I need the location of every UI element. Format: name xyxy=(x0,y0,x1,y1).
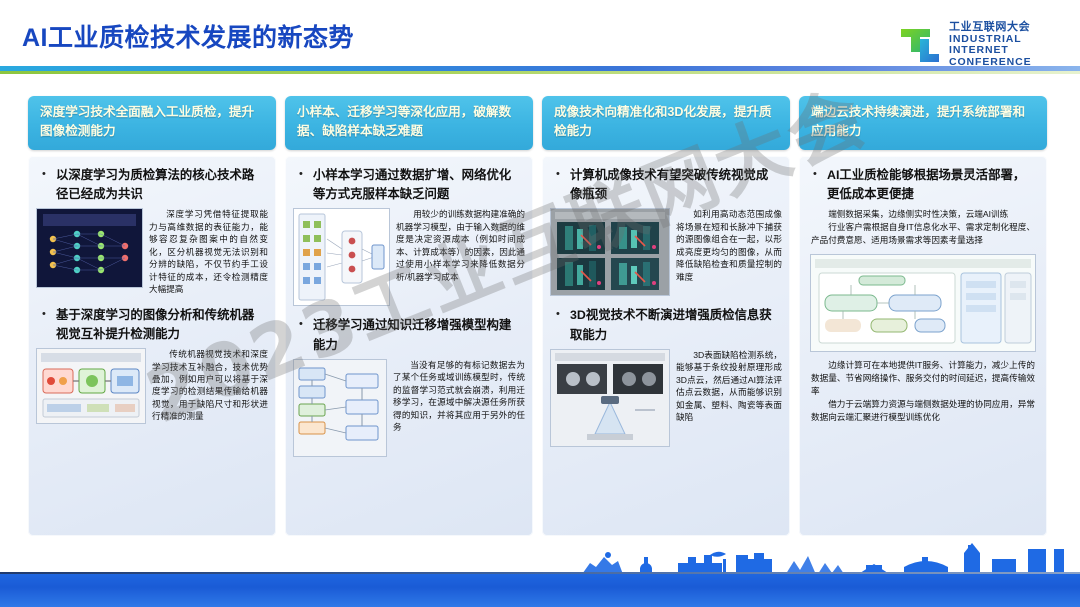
bullet-dot-icon: • xyxy=(813,166,820,204)
column-1-heading-text: 深度学习技术全面融入工业质检，提升图像检测能力 xyxy=(40,103,266,141)
footer-band xyxy=(0,574,1080,607)
content-block: 用较少的训练数据构建准确的机器学习模型，由于输入数据的维度是决定资源成本（例如时… xyxy=(293,208,525,306)
content-paragraph: 深度学习凭借特征提取能力与高维数据的表征能力，能够容忍复杂图案中的自然变化，区分… xyxy=(149,208,268,295)
bullet-dot-icon: • xyxy=(299,316,306,354)
few-shot-learning-diagram-thumbnail xyxy=(293,208,390,306)
column-4-heading-text: 端边云技术持续演进，提升系统部署和应用能力 xyxy=(811,103,1037,141)
list-item: • 小样本学习通过数据扩增、网络优化等方式克服样本缺乏问题 xyxy=(293,166,525,204)
list-item: • 基于深度学习的图像分析和传统机器视觉互补提升检测能力 xyxy=(36,306,268,344)
list-item: • 迁移学习通过知识迁移增强模型构建能力 xyxy=(293,316,525,354)
content-columns: 深度学习技术全面融入工业质检，提升图像检测能力 • 以深度学习为质检算法的核心技… xyxy=(0,96,1080,548)
3d-structured-light-scanner-thumbnail xyxy=(550,349,670,447)
column-imaging: 成像技术向精准化和3D化发展，提升质检能力 • 计算机成像技术有望突破传统视觉成… xyxy=(542,96,790,536)
list-item: • AI工业质检能够根据场景灵活部署，更低成本更便捷 xyxy=(807,166,1039,204)
column-1-heading-banner: 深度学习技术全面融入工业质检，提升图像检测能力 xyxy=(28,96,276,150)
content-paragraph: 端侧数据采集，边缘侧实时性决策，云端AI训练 xyxy=(807,208,1039,221)
content-paragraph: 借力于云端算力资源与端侧数据处理的协同应用，异常数据向云端汇聚进行模型训练优化 xyxy=(807,398,1039,424)
column-3-body: • 计算机成像技术有望突破传统视觉成像瓶颈 xyxy=(542,156,790,536)
neural-network-diagram-thumbnail xyxy=(36,208,143,288)
bullet-label: 以深度学习为质检算法的核心技术路径已经成为共识 xyxy=(56,166,266,204)
machine-vision-pipeline-thumbnail xyxy=(36,348,146,424)
content-block: 当没有足够的有标记数据去为了某个任务或域训练模型时，传统的监督学习范式就会崩溃，… xyxy=(293,359,525,457)
logo-title-en-3: CONFERENCE xyxy=(949,57,1032,68)
logo-title-en-2: INTERNET xyxy=(949,45,1032,56)
slide-footer xyxy=(0,545,1080,607)
bullet-label: 小样本学习通过数据扩增、网络优化等方式克服样本缺乏问题 xyxy=(313,166,523,204)
bullet-dot-icon: • xyxy=(42,166,49,204)
column-2-heading-banner: 小样本、迁移学习等深化应用，破解数据、缺陷样本缺乏难题 xyxy=(285,96,533,150)
column-4-heading-banner: 端边云技术持续演进，提升系统部署和应用能力 xyxy=(799,96,1047,150)
content-paragraph: 传统机器视觉技术和深度学习技术互补融合，技术优势叠加，例如用户可以将基于深度学习… xyxy=(152,348,268,424)
column-1-body: • 以深度学习为质检算法的核心技术路径已经成为共识 xyxy=(28,156,276,536)
content-paragraph: 行业客户需根据自身IT信息化水平、需求定制化程度、产品付费意愿、适用场景需求等因… xyxy=(807,221,1039,247)
column-3-heading-banner: 成像技术向精准化和3D化发展，提升质检能力 xyxy=(542,96,790,150)
hdr-imaging-samples-thumbnail xyxy=(550,208,670,296)
column-deep-learning: 深度学习技术全面融入工业质检，提升图像检测能力 • 以深度学习为质检算法的核心技… xyxy=(28,96,276,536)
bullet-dot-icon: • xyxy=(42,306,49,344)
bullet-label: AI工业质检能够根据场景灵活部署，更低成本更便捷 xyxy=(827,166,1037,204)
list-item: • 以深度学习为质检算法的核心技术路径已经成为共识 xyxy=(36,166,268,204)
list-item: • 计算机成像技术有望突破传统视觉成像瓶颈 xyxy=(550,166,782,204)
logo-text: 工业互联网大会 INDUSTRIAL INTERNET CONFERENCE xyxy=(949,22,1032,68)
slide-header: AI工业质检技术发展的新态势 xyxy=(0,0,1080,92)
content-block: 深度学习凭借特征提取能力与高维数据的表征能力，能够容忍复杂图案中的自然变化，区分… xyxy=(36,208,268,295)
bullet-label: 计算机成像技术有望突破传统视觉成像瓶颈 xyxy=(570,166,780,204)
column-small-sample: 小样本、迁移学习等深化应用，破解数据、缺陷样本缺乏难题 • 小样本学习通过数据扩… xyxy=(285,96,533,536)
content-paragraph: 边缘计算可在本地提供IT服务、计算能力，减少上传的数据量、节省网络操作、服务交付… xyxy=(807,359,1039,398)
slide: AI工业质检技术发展的新态势 xyxy=(0,0,1080,607)
bullet-label: 迁移学习通过知识迁移增强模型构建能力 xyxy=(313,316,523,354)
column-edge-cloud: 端边云技术持续演进，提升系统部署和应用能力 • AI工业质检能够根据场景灵活部署… xyxy=(799,96,1047,536)
column-4-body: • AI工业质检能够根据场景灵活部署，更低成本更便捷 端侧数据采集，边缘侧实时性… xyxy=(799,156,1047,536)
content-block: 3D表面缺陷检测系统，能够基于条纹投射原理形成3D点云，然后通过AI算法评估点云… xyxy=(550,349,782,447)
conference-logo: 工业互联网大会 INDUSTRIAL INTERNET CONFERENCE xyxy=(896,14,1066,76)
column-2-heading-text: 小样本、迁移学习等深化应用，破解数据、缺陷样本缺乏难题 xyxy=(297,103,523,141)
list-item: • 3D视觉技术不断演进增强质检信息获取能力 xyxy=(550,306,782,344)
bullet-label: 基于深度学习的图像分析和传统机器视觉互补提升检测能力 xyxy=(56,306,266,344)
content-block: 传统机器视觉技术和深度学习技术互补融合，技术优势叠加，例如用户可以将基于深度学习… xyxy=(36,348,268,424)
content-block: 如利用高动态范围成像将场景在短和长脉冲下捕获的源图像组合在一起，以形成亮度更均匀… xyxy=(550,208,782,296)
content-paragraph: 当没有足够的有标记数据去为了某个任务或域训练模型时，传统的监督学习范式就会崩溃，… xyxy=(393,359,525,457)
column-3-heading-text: 成像技术向精准化和3D化发展，提升质检能力 xyxy=(554,103,780,141)
content-paragraph: 用较少的训练数据构建准确的机器学习模型，由于输入数据的维度是决定资源成本（例如时… xyxy=(396,208,525,306)
edge-cloud-architecture-diagram-thumbnail xyxy=(810,254,1036,352)
page-title: AI工业质检技术发展的新态势 xyxy=(22,18,354,54)
column-2-body: • 小样本学习通过数据扩增、网络优化等方式克服样本缺乏问题 xyxy=(285,156,533,536)
content-paragraph: 如利用高动态范围成像将场景在短和长脉冲下捕获的源图像组合在一起，以形成亮度更均匀… xyxy=(676,208,782,296)
content-paragraph: 3D表面缺陷检测系统，能够基于条纹投射原理形成3D点云，然后通过AI算法评估点云… xyxy=(676,349,782,447)
bullet-label: 3D视觉技术不断演进增强质检信息获取能力 xyxy=(570,306,780,344)
transfer-learning-flowchart-thumbnail xyxy=(293,359,387,457)
bullet-dot-icon: • xyxy=(556,306,563,344)
industrial-internet-t-mark-icon xyxy=(896,22,942,68)
bullet-dot-icon: • xyxy=(299,166,306,204)
bullet-dot-icon: • xyxy=(556,166,563,204)
